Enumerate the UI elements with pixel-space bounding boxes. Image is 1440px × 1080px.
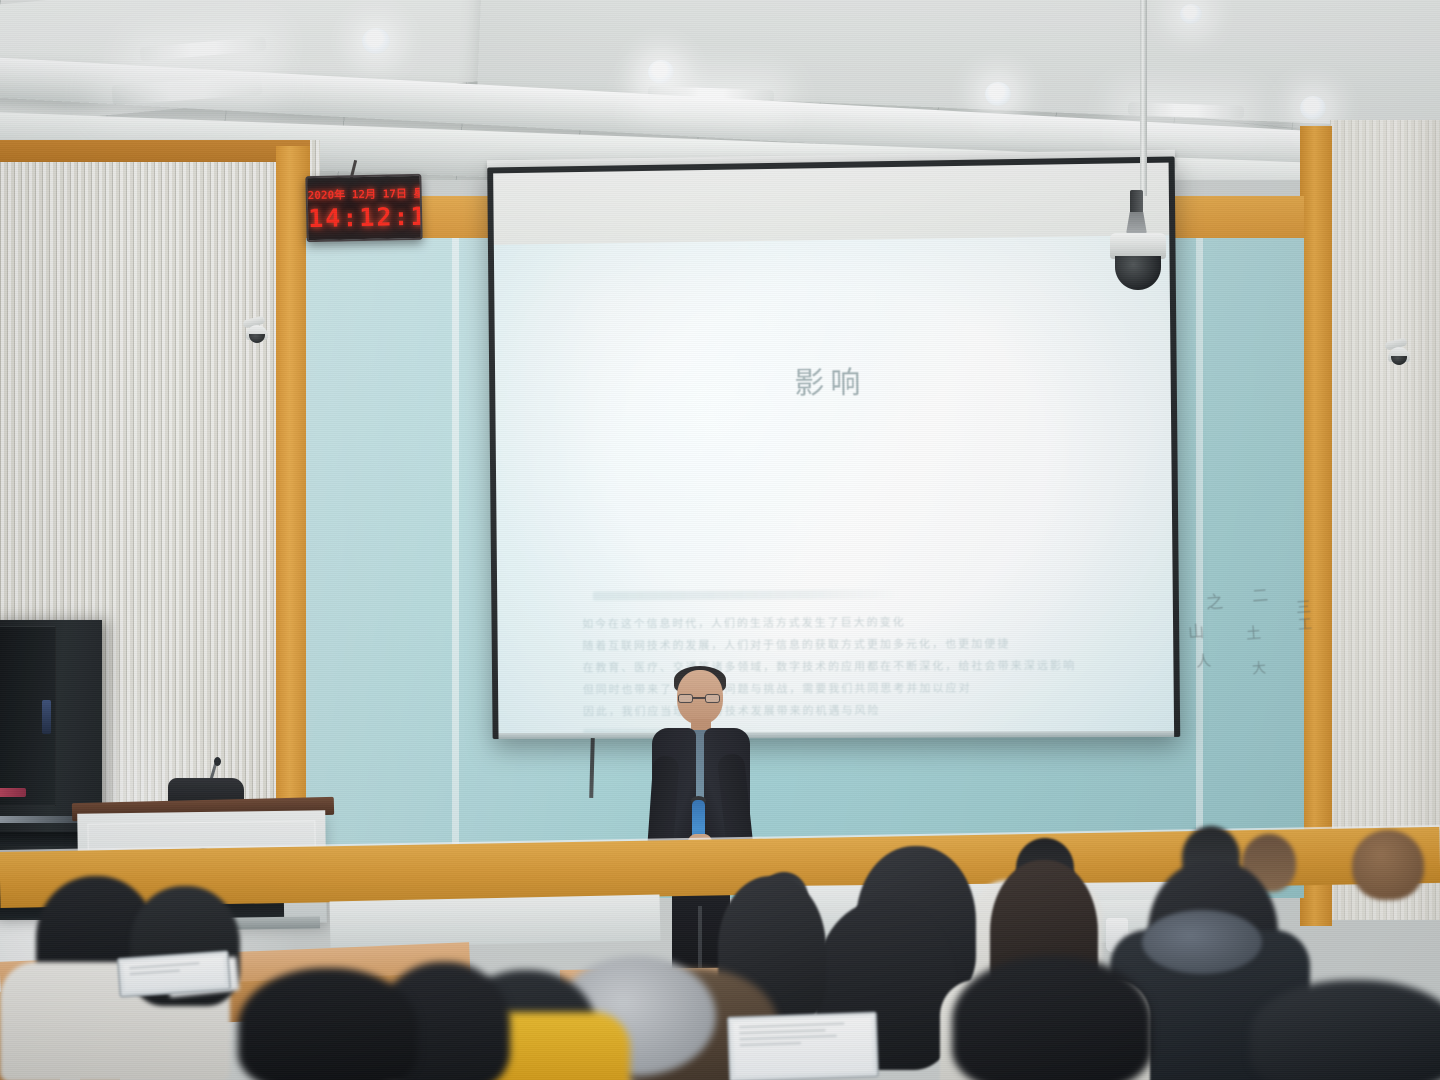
audience-hair-foreground <box>1250 980 1440 1080</box>
downlight <box>1300 96 1326 120</box>
downlight <box>985 82 1011 106</box>
board-scribble: 工 <box>1297 614 1313 635</box>
screen-upper-border <box>493 163 1169 245</box>
rack-door-handle[interactable] <box>42 700 51 734</box>
presenter-leg-gap <box>698 906 702 970</box>
laptop-open[interactable] <box>727 1011 879 1080</box>
led-clock-display: 2020年 12月 17日 星期四 14:12:17 <box>305 174 422 242</box>
camera-lens-icon <box>249 334 265 343</box>
doc-text-line <box>129 962 199 969</box>
screen-vignette <box>494 235 1174 733</box>
camera-mount-pole <box>1140 0 1147 196</box>
wall-right-orange-column <box>1300 126 1332 926</box>
lecture-hall-photo: 之 二 三 山 土 工 人 大 影响 如今在这个信息时代，人们的生活方式发生了巨… <box>0 0 1440 1080</box>
eyeglasses-right-lens <box>705 694 720 703</box>
rack-unit <box>0 832 86 846</box>
led-clock-time: 14:12:17 <box>308 202 421 233</box>
board-scribble: 二 <box>1251 581 1270 606</box>
rack-label-tag <box>0 788 26 797</box>
fur-hood-trim <box>1142 910 1262 974</box>
laptop-screen <box>733 1018 873 1077</box>
projector-screen: 影响 如今在这个信息时代，人们的生活方式发生了巨大的变化 随着互联网技术的发展，… <box>487 156 1180 739</box>
downlight <box>1180 4 1202 24</box>
downlight <box>648 60 674 84</box>
eyeglasses-left-lens <box>678 694 693 703</box>
audience-hair-foreground <box>238 968 418 1080</box>
led-clock-date: 2020年 12月 17日 星期四 <box>308 185 420 203</box>
doc-text-line <box>739 1029 825 1034</box>
projected-slide: 影响 如今在这个信息时代，人们的生活方式发生了巨大的变化 随着互联网技术的发展，… <box>494 235 1174 733</box>
wall-camera-right <box>1382 334 1416 368</box>
stage-step <box>330 895 661 948</box>
doc-text-line <box>130 970 180 975</box>
doc-text-line <box>740 1035 837 1040</box>
audience-head-curly-hair <box>1352 830 1424 900</box>
slat-texture <box>1330 120 1440 920</box>
camera-lens-icon <box>1391 356 1407 365</box>
camera-bracket <box>1122 190 1152 236</box>
teal-wall-divider <box>452 238 459 898</box>
laptop-open[interactable] <box>117 950 232 998</box>
wall-right-panel <box>1330 120 1440 920</box>
wall-left-top-trim <box>0 140 310 162</box>
laptop-screen <box>123 957 225 992</box>
board-scribble: 大 <box>1251 658 1267 679</box>
board-scribble: 土 <box>1245 621 1262 643</box>
board-scribble: 人 <box>1195 649 1212 671</box>
wall-camera-left <box>240 312 274 346</box>
board-scribble: 之 <box>1205 587 1225 613</box>
downlight <box>362 28 390 54</box>
audience-hair-foreground <box>952 956 1152 1080</box>
board-scribble: 山 <box>1187 617 1206 642</box>
teal-wall-divider <box>1196 238 1203 898</box>
eyeglasses-bridge <box>693 697 705 699</box>
doc-text-line <box>739 1023 844 1029</box>
wall-left-orange-column <box>276 146 310 906</box>
doc-text-line <box>740 1042 801 1046</box>
lectern-microphone-head <box>214 757 221 766</box>
